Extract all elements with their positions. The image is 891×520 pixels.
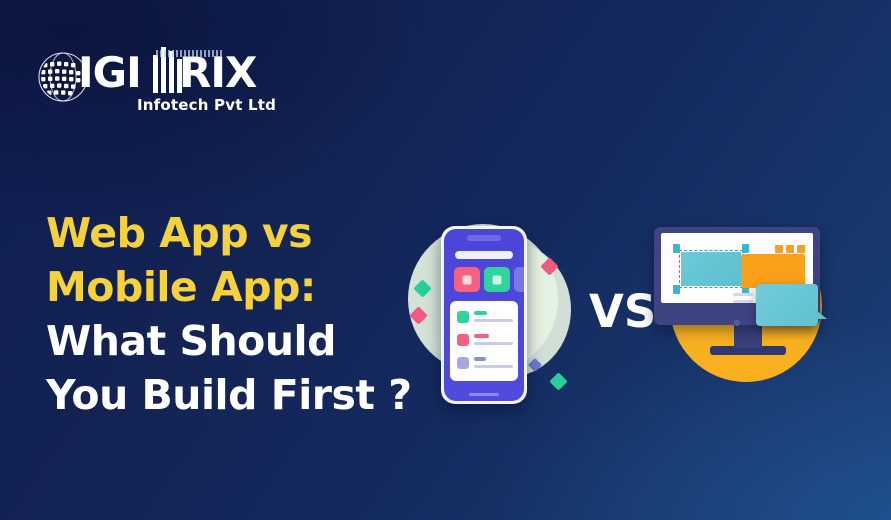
speech-bubble-icon [756,284,818,326]
headline-line-2: Mobile App: [46,260,446,314]
logo-wordmark-tail: RIX [179,52,256,94]
phone-card-blue[interactable] [514,267,524,292]
phone-card-green[interactable] [484,267,510,292]
selection-box[interactable] [673,244,749,294]
versus-label: VS [589,289,656,334]
green-diamond-icon [549,372,567,390]
resize-handle-icon[interactable] [673,244,680,253]
web-app-illustration [648,216,848,416]
monitor-stand [734,322,762,348]
phone-notch [467,235,501,241]
phone-search-bar[interactable] [455,251,513,259]
page-title: Web App vs Mobile App: What Should You B… [46,206,446,422]
list-item[interactable] [457,333,513,349]
logo-wordmark: IGI [78,52,141,94]
orange-content-panel [741,254,805,288]
phone-card-pink[interactable] [454,267,480,292]
headline-line-1: Web App vs [46,206,446,260]
monitor-power-led [734,320,740,326]
company-logo[interactable]: IGI RIX Innovative Technology Solutions … [34,38,214,114]
headline-line-4: You Build First ? [46,368,446,422]
resize-handle-icon[interactable] [742,244,749,253]
phone-home-indicator [469,393,499,396]
headline-line-3: What Should [46,314,446,368]
list-item[interactable] [457,356,513,372]
resize-handle-icon[interactable] [673,285,680,294]
list-item[interactable] [457,310,513,326]
logo-subtitle: Infotech Pvt Ltd [137,96,276,114]
text-line [733,293,753,296]
banner-root: IGI RIX Innovative Technology Solutions … [0,0,891,520]
phone-screen [444,229,524,401]
phone-device [441,226,527,404]
selection-dashed-border [679,250,743,288]
text-line [733,300,753,303]
logo-microtext: Innovative Technology Solutions [156,50,222,57]
mobile-app-illustration [400,212,585,417]
phone-list-sheet [450,301,518,381]
